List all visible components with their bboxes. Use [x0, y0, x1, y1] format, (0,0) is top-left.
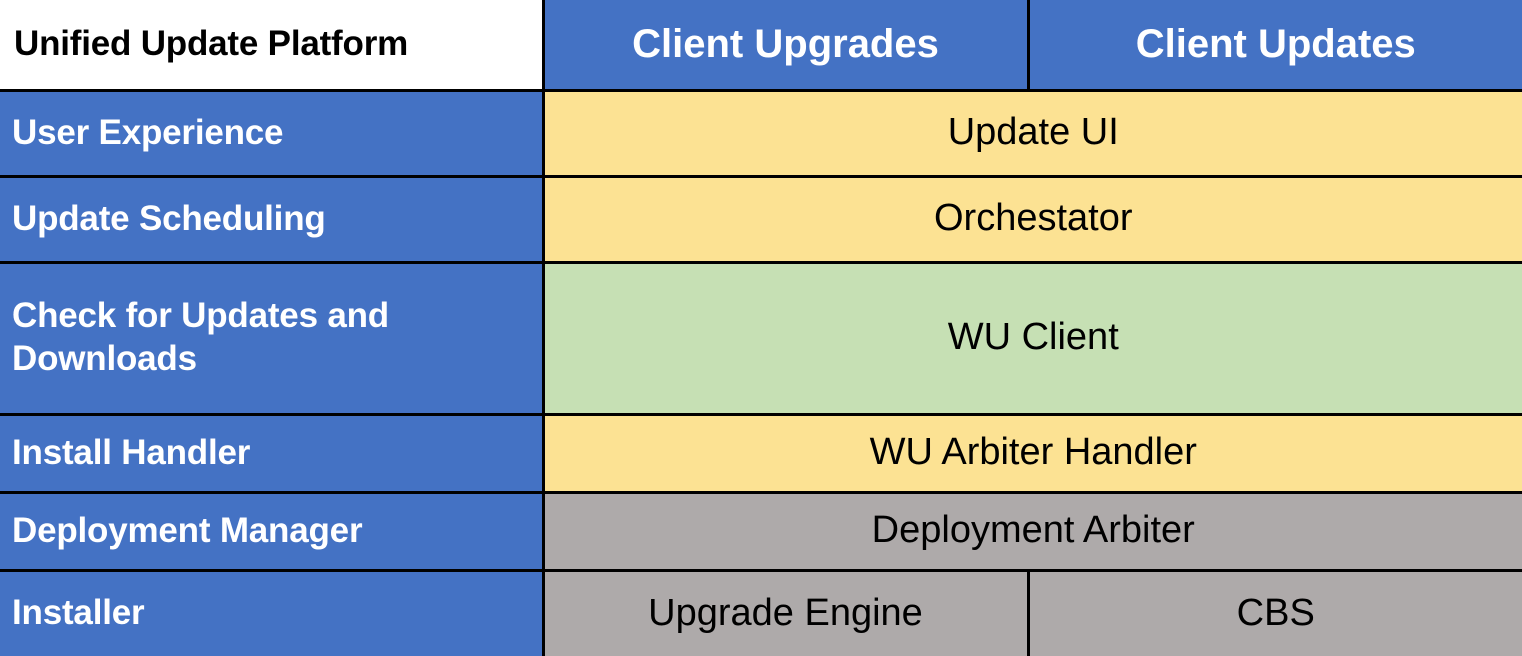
row-label-install-handler: Install Handler	[0, 414, 543, 492]
table-row: Deployment Manager Deployment Arbiter	[0, 492, 1522, 570]
cell-text: Deployment Arbiter	[545, 510, 1522, 552]
row-label-user-experience: User Experience	[0, 90, 543, 176]
unified-update-platform-table: Unified Update Platform Client Upgrades …	[0, 0, 1522, 656]
column-header-label: Client Upgrades	[545, 23, 1027, 65]
row-label-update-scheduling: Update Scheduling	[0, 176, 543, 262]
cell-wu-client: WU Client	[543, 262, 1522, 414]
cell-deployment-arbiter: Deployment Arbiter	[543, 492, 1522, 570]
row-label-text: Installer	[0, 592, 542, 635]
cell-orchestator: Orchestator	[543, 176, 1522, 262]
row-label-text: Check for Updates and Downloads	[0, 295, 542, 380]
table-row: User Experience Update UI	[0, 90, 1522, 176]
row-label-line-1: Check for Updates and	[12, 295, 542, 338]
cell-text: WU Client	[545, 317, 1522, 359]
cell-text: CBS	[1030, 593, 1522, 635]
column-header-client-updates: Client Updates	[1028, 0, 1522, 90]
row-label-installer: Installer	[0, 570, 543, 656]
table-row: Installer Upgrade Engine CBS	[0, 570, 1522, 656]
cell-text: Orchestator	[545, 198, 1522, 240]
column-header-client-upgrades: Client Upgrades	[543, 0, 1028, 90]
row-label-deployment-manager: Deployment Manager	[0, 492, 543, 570]
table-header-row: Unified Update Platform Client Upgrades …	[0, 0, 1522, 90]
table-row: Install Handler WU Arbiter Handler	[0, 414, 1522, 492]
table-corner-cell: Unified Update Platform	[0, 0, 543, 90]
row-label-text: Install Handler	[0, 432, 542, 475]
table-row: Check for Updates and Downloads WU Clien…	[0, 262, 1522, 414]
cell-text: Upgrade Engine	[545, 593, 1027, 635]
row-label-text: User Experience	[0, 112, 542, 155]
cell-upgrade-engine: Upgrade Engine	[543, 570, 1028, 656]
table-row: Update Scheduling Orchestator	[0, 176, 1522, 262]
cell-wu-arbiter-handler: WU Arbiter Handler	[543, 414, 1522, 492]
cell-cbs: CBS	[1028, 570, 1522, 656]
cell-text: Update UI	[545, 112, 1522, 154]
column-header-label: Client Updates	[1030, 23, 1522, 65]
cell-text: WU Arbiter Handler	[545, 432, 1522, 474]
row-label-check-for-updates-and-downloads: Check for Updates and Downloads	[0, 262, 543, 414]
cell-update-ui: Update UI	[543, 90, 1522, 176]
row-label-text: Update Scheduling	[0, 198, 542, 241]
row-label-text: Deployment Manager	[0, 510, 542, 553]
page-title: Unified Update Platform	[0, 26, 542, 63]
row-label-line-2: Downloads	[12, 338, 542, 381]
